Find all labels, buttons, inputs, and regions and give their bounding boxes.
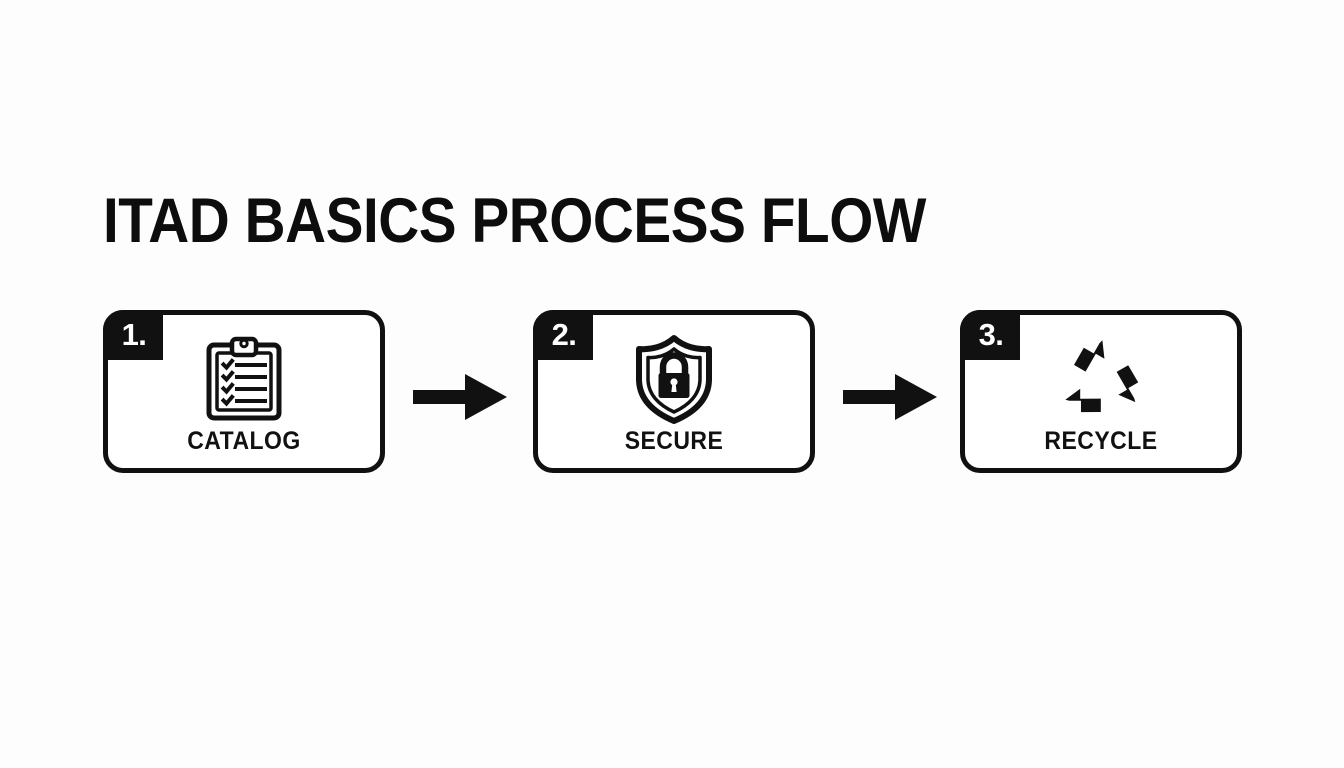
step-card-secure[interactable]: 2. SECURE bbox=[533, 310, 815, 473]
shield-lock-icon bbox=[538, 335, 810, 423]
step-card-recycle[interactable]: 3. RECYCLE bbox=[960, 310, 1242, 473]
process-flow-row: 1. bbox=[0, 310, 1344, 475]
step-label-secure: SECURE bbox=[549, 427, 799, 456]
recycle-icon bbox=[965, 335, 1237, 423]
step-label-catalog: CATALOG bbox=[119, 427, 369, 456]
slide-canvas: ITAD BASICS PROCESS FLOW 1. bbox=[0, 0, 1344, 768]
step-label-recycle: RECYCLE bbox=[976, 427, 1226, 456]
arrow-right-icon-2 bbox=[843, 372, 938, 422]
step-card-catalog[interactable]: 1. bbox=[103, 310, 385, 473]
page-title: ITAD BASICS PROCESS FLOW bbox=[103, 188, 926, 254]
arrow-right-icon-1 bbox=[413, 372, 508, 422]
clipboard-checklist-icon bbox=[108, 335, 380, 423]
